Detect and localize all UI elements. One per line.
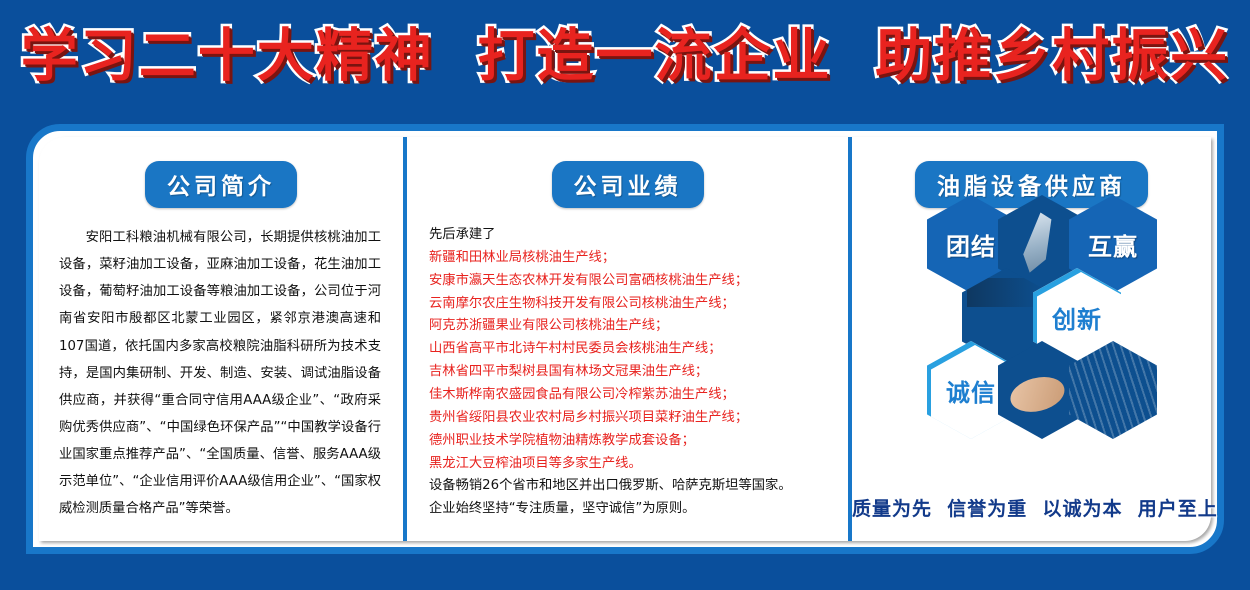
achievements-tail-line: 企业始终坚持“专注质量，坚守诚信”为原则。 [429,498,832,521]
panel-company-achievements: 公司业绩 先后承建了 新疆和田林业局核桃油生产线； 安康市瀛天生态农林开发有限公… [403,137,848,541]
hexagon-integrity-label: 诚信 [946,373,996,408]
achievement-item: 阿克苏浙疆果业有限公司核桃油生产线； [429,315,832,338]
achievement-item: 安康市瀛天生态农林开发有限公司富硒核桃油生产线； [429,270,832,293]
panel-company-profile: 公司简介 安阳工科粮油机械有限公司，长期提供核桃油加工设备，菜籽油加工设备，亚麻… [39,137,403,541]
achievement-item: 山西省高平市北诗午村村民委员会核桃油生产线； [429,338,832,361]
hexagon-cluster: 团结 互赢 创新 诚信 [852,195,1211,445]
achievement-item: 佳木斯桦南农盛园食品有限公司冷榨紫苏油生产线； [429,384,832,407]
supplier-slogan: 质量为先 信誉为重 以诚为本 用户至上 [852,494,1211,521]
banner-title: 学习二十大精神 打造一流企业 助推乡村振兴 [21,28,1229,85]
achievement-item: 云南摩尔农庄生物科技开发有限公司核桃油生产线； [429,293,832,316]
achievements-lead: 先后承建了 [429,224,832,247]
achievement-item: 黑龙江大豆榨油项目等多家生产线。 [429,453,832,476]
achievements-list: 先后承建了 新疆和田林业局核桃油生产线； 安康市瀛天生态农林开发有限公司富硒核桃… [429,224,832,521]
achievement-item: 贵州省绥阳县农业农村局乡村振兴项目菜籽油生产线； [429,407,832,430]
achievement-item: 德州职业技术学院植物油精炼教学成套设备； [429,430,832,453]
achievement-item: 新疆和田林业局核桃油生产线； [429,247,832,270]
hexagon-innovation-label: 创新 [1052,300,1102,335]
panel-container: 公司简介 安阳工科粮油机械有限公司，长期提供核桃油加工设备，菜籽油加工设备，亚麻… [39,137,1211,541]
panel-title-company-profile: 公司简介 [145,161,297,208]
panel-title-company-achievements: 公司业绩 [552,161,704,208]
company-profile-body: 安阳工科粮油机械有限公司，长期提供核桃油加工设备，菜籽油加工设备，亚麻油加工设备… [59,224,381,522]
achievement-item: 吉林省四平市梨树县国有林场文冠果油生产线； [429,361,832,384]
header-banner: 学习二十大精神 打造一流企业 助推乡村振兴 [0,0,1250,112]
panel-supplier: 油脂设备供应商 团结 互赢 创新 诚信 质量为先 [848,137,1211,541]
hexagon-unity-label: 团结 [946,227,996,262]
hexagon-winwin-label: 互赢 [1088,227,1138,262]
achievements-tail-line: 设备畅销26个省市和地区并出口俄罗斯、哈萨克斯坦等国家。 [429,475,832,498]
